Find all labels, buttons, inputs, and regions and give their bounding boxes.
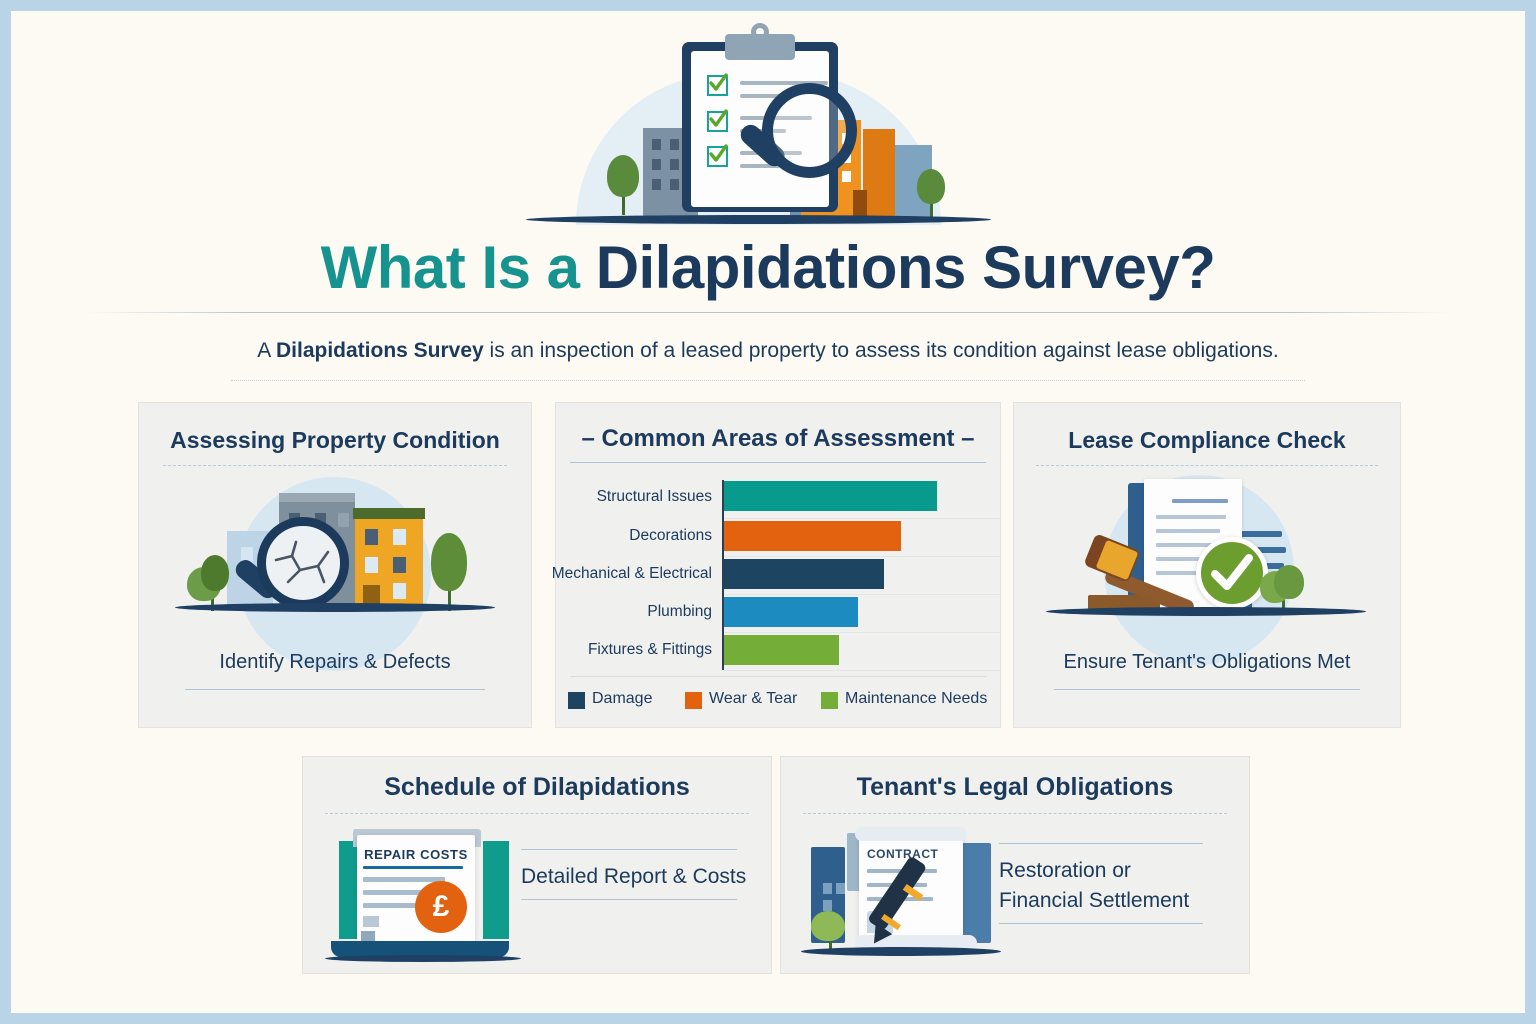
tree-right-b	[1274, 565, 1304, 599]
bar-chart: Structural Issues Decorations Mechanical…	[556, 475, 1000, 675]
scroll-curl-top	[855, 827, 967, 841]
panel-br-rule	[803, 813, 1227, 814]
panel-common-areas-chart[interactable]: – Common Areas of Assessment – Structura…	[556, 403, 1000, 727]
grey-building-top	[279, 493, 355, 502]
subtitle-rest: is an inspection of a leased property to…	[484, 339, 1279, 362]
chart-category-label: Decorations	[629, 528, 712, 544]
orange-window	[393, 557, 406, 573]
infographic-page: What Is a Dilapidations Survey? A Dilapi…	[11, 11, 1525, 1013]
folder-window	[836, 883, 845, 894]
hero-section	[11, 15, 1525, 237]
tree-left	[811, 911, 845, 941]
doc-underline	[363, 866, 463, 869]
title-accent: What Is a	[321, 234, 596, 301]
gavel-document-check-icon	[1046, 475, 1366, 625]
repair-costs-document-pound-icon: REPAIR COSTS £	[331, 817, 521, 959]
folder-window	[823, 900, 832, 911]
magnifier-lens	[257, 517, 349, 609]
panel-left-rule	[163, 465, 507, 466]
ground-shadow	[801, 947, 1001, 956]
panel-br-footer-line1: Restoration or	[999, 859, 1131, 883]
clipboard-checklist-magnifier-buildings-icon	[518, 15, 998, 237]
tree-right	[431, 533, 467, 591]
check-icon	[1201, 542, 1263, 604]
folder-window	[823, 883, 832, 894]
orange-window	[393, 583, 406, 599]
magnifier-icon	[762, 83, 867, 188]
hero-window	[670, 179, 679, 190]
pound-symbol: £	[433, 890, 450, 923]
title-divider	[86, 312, 1450, 313]
chart-legend: Damage Wear & Tear Maintenance Needs	[556, 689, 1000, 715]
orange-window	[393, 529, 406, 545]
subtitle-bold: Dilapidations Survey	[276, 339, 484, 362]
legend-label-maintenance-needs: Maintenance Needs	[845, 690, 987, 708]
panel-left-heading: Assessing Property Condition	[139, 427, 531, 454]
bar-plumbing	[724, 597, 858, 627]
doc-block	[363, 916, 379, 927]
panel-bl-footer-block: Detailed Report & Costs	[521, 849, 743, 909]
legend-swatch-damage	[568, 692, 585, 709]
teal-backer-right	[483, 841, 509, 939]
hero-door	[853, 190, 867, 218]
panel-bl-heading: Schedule of Dilapidations	[303, 773, 771, 802]
bar-decorations	[724, 521, 901, 551]
hero-window	[652, 179, 661, 190]
hero-window	[652, 159, 661, 170]
doc-block	[361, 931, 375, 941]
panel-schedule-of-dilapidations[interactable]: Schedule of Dilapidations REPAIR COSTS £…	[303, 757, 771, 973]
subtitle-divider	[231, 380, 1305, 381]
panel-tenants-legal-obligations[interactable]: Tenant's Legal Obligations CONTRACT	[781, 757, 1249, 973]
chart-category-label: Structural Issues	[597, 489, 712, 505]
panel-br-footer-rule-top	[999, 843, 1203, 844]
title-main: Dilapidations Survey?	[596, 234, 1216, 301]
chart-legend-rule	[570, 676, 986, 677]
panel-lease-compliance-check[interactable]: Lease Compliance Check	[1014, 403, 1400, 727]
grey-window	[338, 513, 349, 527]
hero-window	[652, 139, 661, 150]
orange-window	[365, 529, 378, 545]
check-badge	[1196, 537, 1268, 609]
hero-window	[670, 139, 679, 150]
chart-category-label: Mechanical & Electrical	[552, 566, 712, 582]
panel-bl-footer-rule-top	[521, 849, 737, 850]
panel-right-heading: Lease Compliance Check	[1014, 427, 1400, 454]
tree-left-b	[201, 555, 229, 591]
legend-swatch-wear-tear	[685, 692, 702, 709]
crack-icon	[266, 526, 340, 600]
bar-mechanical-electrical	[724, 559, 884, 589]
chart-title: – Common Areas of Assessment –	[556, 425, 1000, 453]
legend-label-damage: Damage	[592, 690, 652, 708]
check-icon	[708, 144, 728, 164]
legend-label-wear-tear: Wear & Tear	[709, 690, 797, 708]
ground-shadow	[1046, 607, 1366, 616]
check-icon	[708, 73, 728, 93]
hero-building-orange-2	[863, 129, 895, 218]
building-magnifier-crack-icon	[175, 475, 495, 625]
panel-br-footer-rule-bottom	[999, 923, 1203, 924]
chart-category-label: Plumbing	[647, 604, 712, 620]
panel-br-footer-line2: Financial Settlement	[999, 889, 1189, 913]
panel-bl-footer: Detailed Report & Costs	[521, 865, 737, 889]
panel-right-footer-rule	[1054, 689, 1360, 690]
doc-line	[1156, 557, 1204, 561]
bar-fixtures-fittings	[724, 635, 839, 665]
panel-right-footer: Ensure Tenant's Obligations Met	[1014, 651, 1400, 674]
panel-left-footer-rule	[185, 689, 485, 690]
doc-line	[1156, 529, 1220, 533]
hero-window	[670, 159, 679, 170]
page-title: What Is a Dilapidations Survey?	[11, 233, 1525, 302]
hero-ground-shadow	[526, 215, 991, 224]
subtitle: A Dilapidations Survey is an inspection …	[11, 339, 1525, 363]
clipboard-ring	[751, 23, 769, 41]
pound-badge: £	[415, 881, 467, 933]
panel-right-rule	[1036, 465, 1378, 466]
check-icon	[708, 109, 728, 129]
hero-tree-left	[607, 155, 639, 197]
ground-shadow	[325, 955, 521, 962]
ground-shadow	[175, 603, 495, 612]
panel-bl-footer-rule-bottom	[521, 899, 737, 900]
doc-title: REPAIR COSTS	[363, 847, 469, 862]
chart-category-label: Fixtures & Fittings	[588, 642, 712, 658]
contract-scroll-pen-icon: CONTRACT	[805, 815, 1003, 961]
orange-building-roof	[353, 508, 425, 519]
panel-left-footer: Identify Repairs & Defects	[139, 651, 531, 674]
hero-tree-right	[917, 169, 945, 204]
chart-title-rule	[570, 462, 986, 463]
subtitle-lead: A	[257, 339, 276, 362]
doc-line	[1172, 499, 1228, 503]
orange-window	[365, 557, 378, 573]
panel-assessing-property-condition[interactable]: Assessing Property Condition	[139, 403, 531, 727]
panel-bl-rule	[325, 813, 749, 814]
legend-swatch-maintenance-needs	[821, 692, 838, 709]
panel-br-heading: Tenant's Legal Obligations	[781, 773, 1249, 802]
magnifier-lens	[762, 83, 857, 178]
panel-br-footer-block: Restoration or Financial Settlement	[999, 843, 1225, 929]
doc-line	[1156, 515, 1226, 519]
bar-structural-issues	[724, 481, 937, 511]
